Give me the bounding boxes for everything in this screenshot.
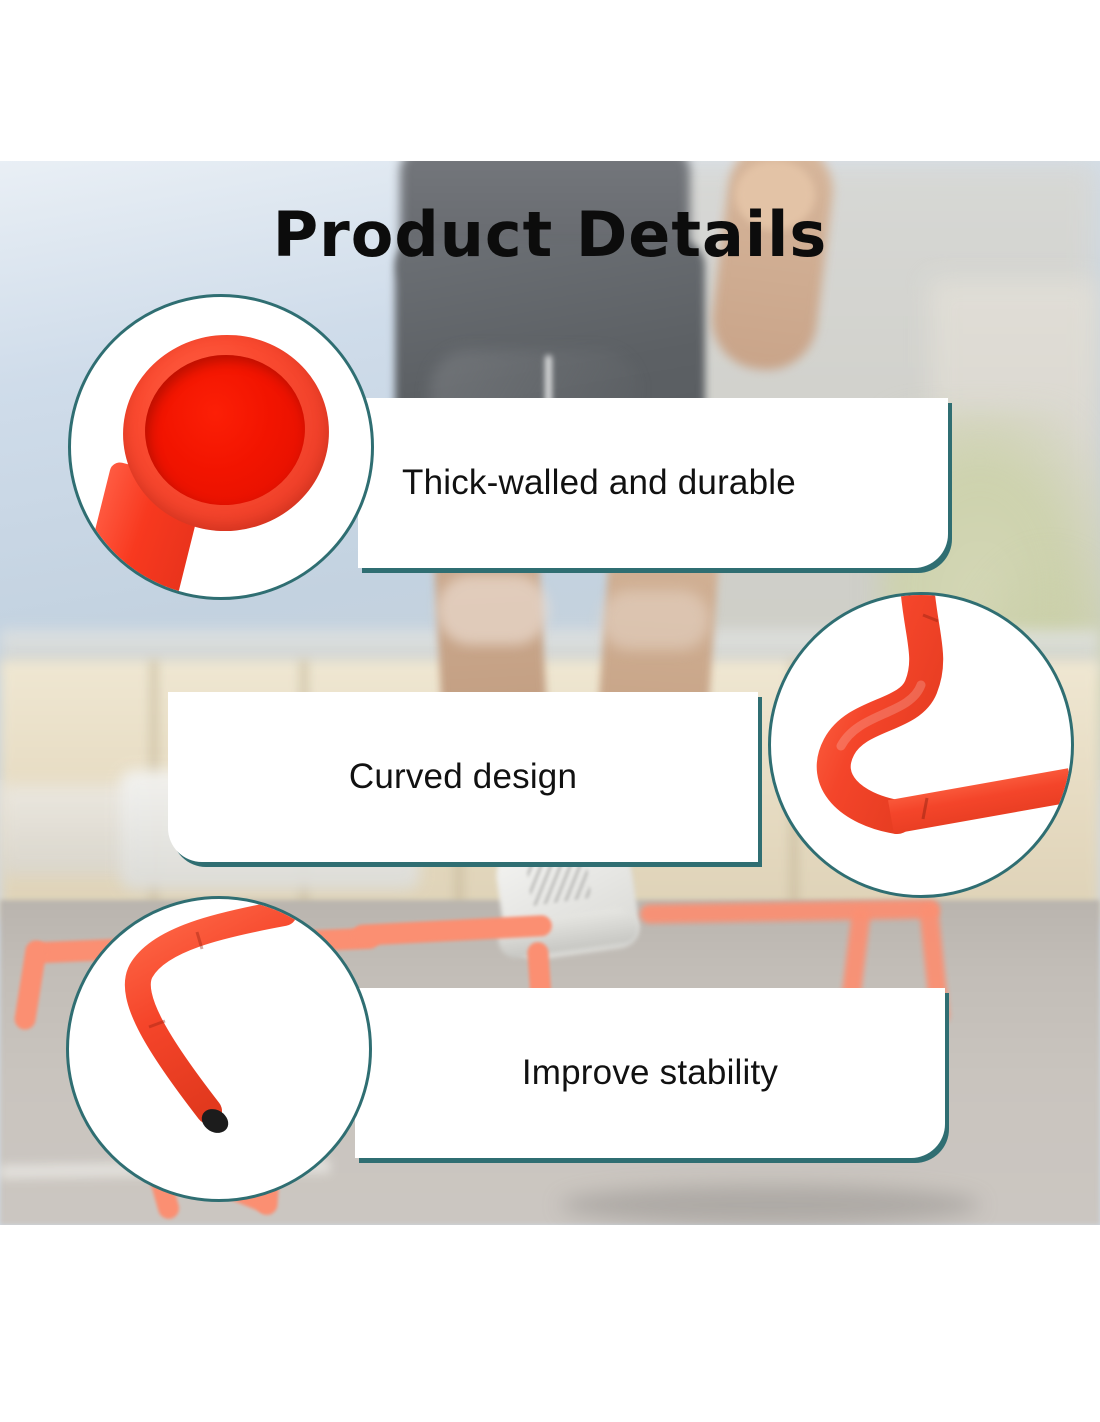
tube-straight-segment <box>891 785 1071 817</box>
hurdle-leg-tube <box>138 913 284 1111</box>
feature-card-thick-walled: Thick-walled and durable <box>358 398 948 568</box>
hurdle-top-bar-front-2 <box>352 915 553 946</box>
feature-card-curved-design: Curved design <box>168 692 758 862</box>
feature-label-improve-stability: Improve stability <box>355 988 945 1158</box>
feature-card-improve-stability: Improve stability <box>355 988 945 1158</box>
feature-image-improve-stability <box>66 896 372 1202</box>
tube-opening-photo <box>71 297 371 597</box>
page-title: Product Details <box>0 198 1100 271</box>
feature-label-curved-design: Curved design <box>168 692 758 862</box>
hurdle-leg-front-left <box>13 939 48 1031</box>
feature-image-thick-walled <box>68 294 374 600</box>
tube-s-bend <box>834 595 926 817</box>
top-margin <box>0 0 1100 161</box>
hurdle-top-bar-rear <box>640 899 940 923</box>
hurdle-leg-photo <box>69 899 369 1199</box>
bottom-margin <box>0 1225 1100 1422</box>
feature-label-thick-walled: Thick-walled and durable <box>358 398 948 568</box>
curved-tube-photo <box>771 595 1071 895</box>
product-details-infographic: Product Details Thick-walled and durable… <box>0 0 1100 1422</box>
feature-image-curved-design <box>768 592 1074 898</box>
